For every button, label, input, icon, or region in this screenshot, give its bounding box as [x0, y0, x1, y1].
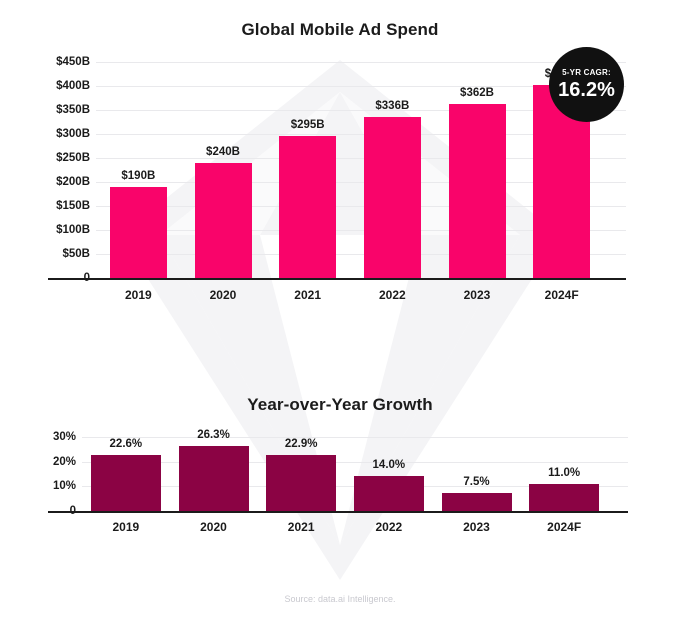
bar[interactable] [195, 163, 252, 278]
gridline [82, 462, 628, 463]
bar-group[interactable]: 22.9% [266, 455, 336, 511]
bar-value-label: $336B [375, 100, 409, 112]
gridline [96, 62, 626, 63]
x-axis-tick-label: 2020 [170, 520, 258, 534]
x-axis-tick-label: 2022 [350, 288, 435, 302]
bar-value-label: $240B [206, 146, 240, 158]
bar[interactable] [442, 493, 512, 512]
bar-group[interactable]: $295B [279, 136, 336, 278]
bar-value-label: $362B [460, 87, 494, 99]
bar[interactable] [449, 104, 506, 278]
bar[interactable] [91, 455, 161, 511]
y-axis-tick-label: $150B [56, 200, 90, 212]
y-axis-tick-label: $450B [56, 56, 90, 68]
cagr-badge: 5-YR CAGR: 16.2% [549, 47, 624, 122]
x-axis-tick-label: 2021 [257, 520, 345, 534]
y-axis-tick-label: 20% [53, 456, 76, 468]
bar[interactable] [529, 484, 599, 511]
y-axis-tick-label: $250B [56, 152, 90, 164]
y-axis-tick-label: $100B [56, 224, 90, 236]
chart-growth-plot-area: 010%20%30%22.6%201926.3%202022.9%202114.… [0, 433, 680, 553]
x-axis-tick-label: 2019 [82, 520, 170, 534]
bar[interactable] [354, 476, 424, 511]
bar-value-label: 11.0% [548, 467, 580, 479]
x-axis-tick-label: 2024F [519, 288, 604, 302]
bar-group[interactable]: $190B [110, 187, 167, 278]
bar-group[interactable]: $362B [449, 104, 506, 278]
bar-value-label: 7.5% [463, 476, 489, 488]
y-axis-tick-label: $300B [56, 128, 90, 140]
x-axis-tick-label: 2022 [345, 520, 433, 534]
y-axis-tick-label: $350B [56, 104, 90, 116]
chart-spend-title: Global Mobile Ad Spend [0, 20, 680, 40]
bar[interactable] [364, 117, 421, 278]
y-axis-tick-label: $50B [63, 248, 91, 260]
bar-value-label: $190B [121, 170, 155, 182]
x-axis-tick-label: 2024F [520, 520, 608, 534]
x-axis-tick-label: 2021 [265, 288, 350, 302]
x-axis-line [48, 278, 626, 280]
bar[interactable] [266, 455, 336, 511]
y-axis-year-over-year-growth: 010%20%30% [0, 437, 82, 511]
x-axis-tick-label: 2020 [181, 288, 266, 302]
bar-value-label: 26.3% [197, 429, 230, 441]
bar[interactable] [110, 187, 167, 278]
y-axis-tick-label: 30% [53, 431, 76, 443]
x-axis-tick-label: 2019 [96, 288, 181, 302]
x-axis-line [48, 511, 628, 513]
bar-group[interactable]: 22.6% [91, 455, 161, 511]
cagr-badge-label: 5-YR CAGR: [562, 69, 611, 77]
bar-group[interactable]: $240B [195, 163, 252, 278]
bar-value-label: 22.6% [110, 438, 143, 450]
bar-group[interactable]: $336B [364, 117, 421, 278]
chart-growth-title: Year-over-Year Growth [0, 395, 680, 415]
y-axis-tick-label: $200B [56, 176, 90, 188]
y-axis-tick-label: $400B [56, 80, 90, 92]
x-axis-tick-label: 2023 [435, 288, 520, 302]
chart-year-over-year-growth: Year-over-Year Growth 010%20%30%22.6%201… [0, 395, 680, 553]
bar[interactable] [179, 446, 249, 511]
bar-group[interactable]: 14.0% [354, 476, 424, 511]
y-axis-tick-label: 10% [53, 480, 76, 492]
gridline [82, 437, 628, 438]
bar-value-label: 22.9% [285, 438, 318, 450]
bar-group[interactable]: 11.0% [529, 484, 599, 511]
bar[interactable] [279, 136, 336, 278]
y-axis-global-mobile-ad-spend: 0$50B$100B$150B$200B$250B$300B$350B$400B… [0, 62, 96, 278]
x-axis-tick-label: 2023 [433, 520, 521, 534]
source-note: Source: data.ai Intelligence. [0, 594, 680, 604]
bar-value-label: $295B [291, 119, 325, 131]
bar-group[interactable]: 7.5% [442, 493, 512, 512]
bar-value-label: 14.0% [373, 459, 406, 471]
cagr-badge-value: 16.2% [558, 80, 615, 100]
bar-group[interactable]: 26.3% [179, 446, 249, 511]
